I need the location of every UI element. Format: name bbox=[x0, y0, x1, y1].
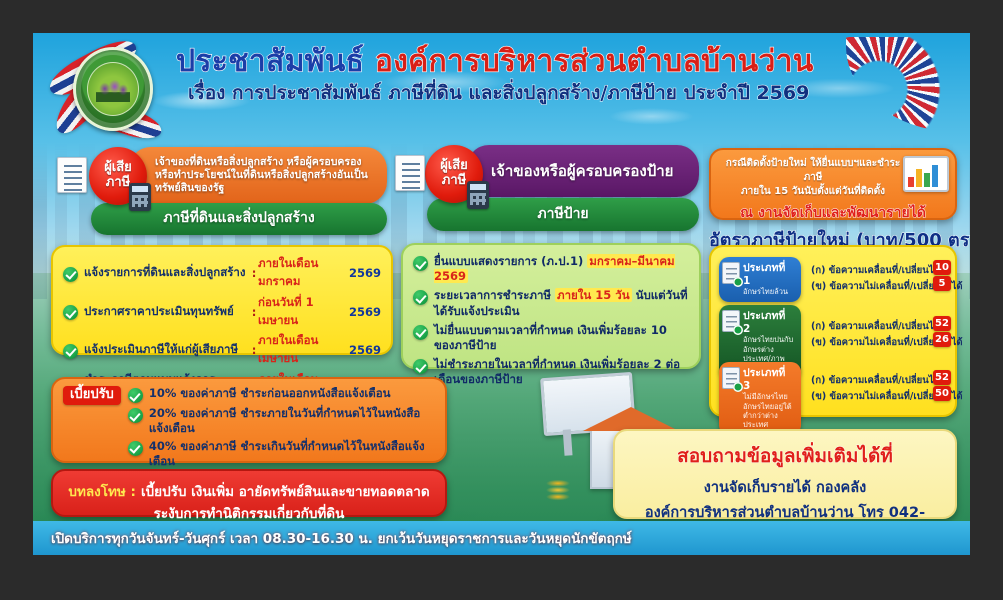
schedule-label: แจ้งรายการที่ดินและสิ่งปลูกสร้าง bbox=[84, 264, 252, 282]
sign-type-1-row-a-text: (ก) ข้อความเคลื่อนที่/เปลี่ยนได้ bbox=[811, 263, 940, 278]
schedule-date: ก่อนวันที่ 1 เมษายน bbox=[258, 294, 349, 330]
sign-type-3-subtitle: ไม่มีอักษรไทย อักษรไทยอยู่ใต้ ต่ำกว่าต่า… bbox=[743, 392, 796, 430]
check-icon bbox=[63, 305, 78, 320]
sign-type-3-row-a-value: 52 bbox=[933, 370, 951, 385]
fine-item-1: 10% ของค่าภาษี ชำระก่อนออกหนังสือแจ้งเตื… bbox=[149, 386, 391, 401]
sign-rule-1: ยื่นแบบแสดงรายการ (ภ.ป.1) มกราคม–มีนาคม … bbox=[434, 254, 689, 284]
legal-penalty-card: บทลงโทษ : เบี้ยปรับ เงินเพิ่ม อายัดทรัพย… bbox=[51, 469, 447, 517]
sign-type-2-row-a-value: 52 bbox=[933, 316, 951, 331]
taxpayer-label-line1: ผู้เสีย bbox=[104, 161, 132, 176]
legal-label: บทลงโทษ : bbox=[68, 484, 135, 500]
fine-label-badge: เบี้ยปรับ bbox=[63, 386, 121, 405]
land-tax-category-label: ภาษีที่ดินและสิ่งปลูกสร้าง bbox=[163, 210, 314, 228]
monitor-chart-icon bbox=[903, 156, 949, 192]
seal-emblem-icon bbox=[73, 47, 153, 131]
schedule-year: 2569 bbox=[349, 266, 381, 280]
taxpayer-label-line2: ภาษี bbox=[106, 176, 130, 191]
contact-heading: สอบถามข้อมูลเพิ่มเติมได้ที่ bbox=[623, 441, 947, 471]
check-icon bbox=[63, 267, 78, 282]
seal-artwork-icon bbox=[96, 80, 130, 102]
land-payer-line-2: หรือทำประโยชน์ในที่ดินหรือสิ่งปลูกสร้างอ… bbox=[155, 169, 368, 182]
check-icon bbox=[128, 388, 143, 403]
fine-item-2: 20% ของค่าภาษี ชำระภายในวันที่กำหนดไว้ใน… bbox=[149, 406, 435, 436]
fine-item-3: 40% ของค่าภาษี ชำระเกินวันที่กำหนดไว้ในห… bbox=[149, 439, 435, 469]
land-tax-schedule-card: แจ้งรายการที่ดินและสิ่งปลูกสร้าง : ภายใน… bbox=[51, 245, 393, 355]
page-subtitle: เรื่อง การประชาสัมพันธ์ ภาษีที่ดิน และสิ… bbox=[188, 83, 908, 104]
sign-taxpayer-definition-pill: เจ้าของหรือผู้ครอบครองป้าย bbox=[467, 145, 699, 197]
land-payer-line-3: ทรัพย์สินของรัฐ bbox=[155, 182, 368, 195]
sign-type-1-subtitle: อักษรไทยล้วน bbox=[743, 287, 796, 296]
clipboard-check-icon bbox=[722, 262, 740, 284]
calculator-icon bbox=[467, 181, 489, 209]
document-icon bbox=[57, 157, 87, 193]
service-hours-bar: เปิดบริการทุกวันจันทร์-วันศุกร์ เวลา 08.… bbox=[33, 521, 970, 555]
check-icon bbox=[413, 325, 428, 340]
new-sign-notice-line-1: กรณีติดตั้งป้ายใหม่ ให้ยื่นแบบฯและชำระภา… bbox=[721, 157, 905, 185]
clipboard-check-icon bbox=[722, 310, 740, 332]
sign-type-1-row-a-value: 10 bbox=[933, 260, 951, 275]
check-icon bbox=[63, 344, 78, 359]
sign-tax-badge-group: ผู้เสีย ภาษี เจ้าของหรือผู้ครอบครองป้าย … bbox=[385, 145, 703, 237]
fine-block: เบี้ยปรับ 10% ของค่าภาษี ชำระก่อนออกหนัง… bbox=[63, 386, 435, 472]
page-title: ประชาสัมพันธ์ องค์การบริหารส่วนตำบลบ้านว… bbox=[176, 46, 876, 78]
service-hours-text: เปิดบริการทุกวันจันทร์-วันศุกร์ เวลา 08.… bbox=[33, 527, 632, 549]
table-row: แจ้งประเมินภาษีให้แก่ผู้เสียภาษี : ภายใน… bbox=[63, 332, 381, 368]
sign-type-3-row-a-text: (ก) ข้อความเคลื่อนที่/เปลี่ยนได้ bbox=[811, 373, 940, 388]
sign-rule-3: ไม่ยื่นแบบตามเวลาที่กำหนด เงินเพิ่มร้อยล… bbox=[434, 323, 689, 353]
list-item: ระยะเวลาการชำระภาษี ภายใน 15 วัน นับแต่ว… bbox=[413, 288, 689, 318]
taxpayer-label-line2: ภาษี bbox=[442, 174, 466, 189]
table-row: แจ้งรายการที่ดินและสิ่งปลูกสร้าง : ภายใน… bbox=[63, 255, 381, 291]
sign-type-3-row-b-value: 50 bbox=[933, 386, 951, 401]
list-item: 40% ของค่าภาษี ชำระเกินวันที่กำหนดไว้ในห… bbox=[128, 439, 435, 469]
contact-office: งานจัดเก็บรายได้ กองคลัง bbox=[623, 476, 947, 499]
organization-seal bbox=[51, 35, 171, 145]
sign-type-2-row-a-text: (ก) ข้อความเคลื่อนที่/เปลี่ยนได้ bbox=[811, 319, 940, 334]
check-icon bbox=[413, 290, 428, 305]
schedule-label: แจ้งประเมินภาษีให้แก่ผู้เสียภาษี bbox=[84, 341, 252, 359]
title-part-organization: องค์การบริหารส่วนตำบลบ้านว่าน bbox=[375, 44, 814, 79]
schedule-label: ประกาศราคาประเมินทุนทรัพย์ bbox=[84, 303, 252, 321]
poster-canvas: ประชาสัมพันธ์ องค์การบริหารส่วนตำบลบ้านว… bbox=[0, 0, 1003, 600]
check-icon bbox=[413, 359, 428, 374]
seal-inner-ring bbox=[87, 62, 139, 116]
land-taxpayer-definition-pill: เจ้าของที่ดินหรือสิ่งปลูกสร้าง หรือผู้คร… bbox=[129, 147, 387, 204]
sign-type-2-title: ประเภทที่ 2 bbox=[743, 310, 796, 335]
new-sign-notice-office: ณ งานจัดเก็บและพัฒนารายได้ bbox=[721, 202, 945, 224]
schedule-date: ภายในเดือน เมษายน bbox=[258, 332, 349, 368]
check-icon bbox=[128, 408, 143, 423]
document-icon bbox=[395, 155, 425, 191]
sign-tax-rules-card: ยื่นแบบแสดงรายการ (ภ.ป.1) มกราคม–มีนาคม … bbox=[401, 243, 701, 369]
penalty-card: เบี้ยปรับ 10% ของค่าภาษี ชำระก่อนออกหนัง… bbox=[51, 377, 447, 463]
sign-type-2-row-b-value: 26 bbox=[933, 332, 951, 347]
new-sign-notice-card: กรณีติดตั้งป้ายใหม่ ให้ยื่นแบบฯและชำระภา… bbox=[709, 148, 957, 220]
list-item: 20% ของค่าภาษี ชำระภายในวันที่กำหนดไว้ใน… bbox=[128, 406, 435, 436]
sign-payer-text: เจ้าของหรือผู้ครอบครองป้าย bbox=[491, 162, 673, 181]
contact-card: สอบถามข้อมูลเพิ่มเติมได้ที่ งานจัดเก็บรา… bbox=[613, 429, 957, 519]
calculator-icon bbox=[129, 183, 151, 211]
sign-rate-table-card: ประเภทที่ 1 อักษรไทยล้วน (ก) ข้อความเคลื… bbox=[709, 245, 957, 417]
sign-type-1-row-b-value: 5 bbox=[933, 276, 951, 291]
coins-icon bbox=[538, 475, 578, 501]
poster-header: ประชาสัมพันธ์ องค์การบริหารส่วนตำบลบ้านว… bbox=[33, 33, 970, 123]
schedule-date: ภายในเดือน มกราคม bbox=[258, 255, 349, 291]
list-item: ยื่นแบบแสดงรายการ (ภ.ป.1) มกราคม–มีนาคม … bbox=[413, 254, 689, 284]
sign-type-3-title: ประเภทที่ 3 bbox=[743, 367, 796, 392]
list-item: 10% ของค่าภาษี ชำระก่อนออกหนังสือแจ้งเตื… bbox=[128, 386, 435, 403]
legal-line-1: เบี้ยปรับ เงินเพิ่ม อายัดทรัพย์สินและขาย… bbox=[141, 484, 430, 500]
poster: ประชาสัมพันธ์ องค์การบริหารส่วนตำบลบ้านว… bbox=[33, 33, 970, 555]
sign-type-1-title: ประเภทที่ 1 bbox=[743, 262, 796, 287]
table-row: ประกาศราคาประเมินทุนทรัพย์ : ก่อนวันที่ … bbox=[63, 294, 381, 330]
check-icon bbox=[413, 256, 428, 271]
land-payer-line-1: เจ้าของที่ดินหรือสิ่งปลูกสร้าง หรือผู้คร… bbox=[155, 156, 368, 169]
schedule-year: 2569 bbox=[349, 305, 381, 319]
new-sign-notice-line-2: ภายใน 15 วันนับตั้งแต่วันที่ติดตั้ง bbox=[721, 185, 905, 199]
sign-rule-2: ระยะเวลาการชำระภาษี ภายใน 15 วัน นับแต่ว… bbox=[434, 288, 689, 318]
schedule-year: 2569 bbox=[349, 343, 381, 357]
title-part-announcement: ประชาสัมพันธ์ bbox=[176, 44, 364, 79]
taxpayer-label-line1: ผู้เสีย bbox=[440, 159, 468, 174]
list-item: ไม่ยื่นแบบตามเวลาที่กำหนด เงินเพิ่มร้อยล… bbox=[413, 323, 689, 353]
land-tax-badge-group: ผู้เสีย ภาษี เจ้าของที่ดินหรือสิ่งปลูกสร… bbox=[51, 145, 391, 237]
check-icon bbox=[128, 441, 143, 456]
sign-tax-category-label: ภาษีป้าย bbox=[537, 206, 588, 224]
sign-type-1-badge: ประเภทที่ 1 อักษรไทยล้วน bbox=[719, 257, 801, 302]
